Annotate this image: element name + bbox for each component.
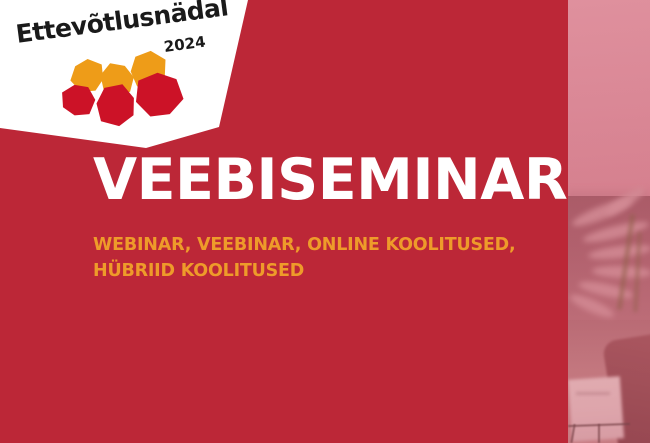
office-interior-photo [568,0,650,443]
hex-red-right [136,73,184,117]
photo-red-tint-overlay [568,0,650,443]
page-subtitle-line-1: WEBINAR, VEEBINAR, ONLINE KOOLITUSED, [93,235,515,255]
ettevotlusnadal-logo: Ettevõtlusnädal 2024 [0,0,250,152]
page-subtitle: WEBINAR, VEEBINAR, ONLINE KOOLITUSED, HÜ… [93,232,593,284]
page-title: VEEBISEMINAR [93,152,567,209]
poster: Ettevõtlusnädal 2024 VEEBISEMINAR WEBINA… [0,0,650,443]
page-subtitle-line-2: HÜBRIID KOOLITUSED [93,258,593,284]
